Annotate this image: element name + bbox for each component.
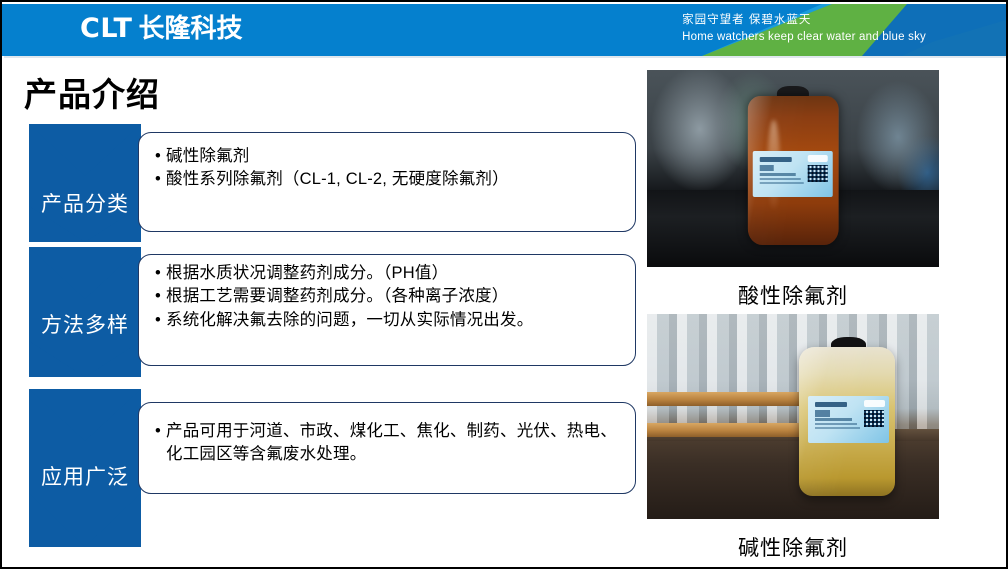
photo1-label-line — [760, 178, 801, 180]
photo2-label-line — [815, 418, 852, 420]
bullet-dot-icon: • — [155, 420, 166, 443]
photo1-label-line — [760, 173, 797, 175]
photo-caption-acidic: 酸性除氟剂 — [647, 280, 939, 310]
tagline-english: Home watchers keep clear water and blue … — [682, 29, 926, 46]
bullet-item: • 酸性系列除氟剂（CL-1, CL-2, 无硬度除氟剂） — [155, 168, 621, 191]
photo2-label-qr-code — [864, 410, 883, 427]
logo-text-cn: 长隆科技 — [138, 15, 242, 41]
photo1-label-title — [760, 157, 792, 162]
bullet-dot-icon: • — [155, 262, 166, 285]
photo2-label-badge — [864, 400, 885, 407]
header-underline — [4, 56, 1008, 58]
bullet-item: • 碱性除氟剂 — [155, 145, 621, 168]
company-logo: CLT 长隆科技 — [80, 15, 242, 42]
photo1-label-badge — [807, 155, 828, 162]
photo2-wooden-rail — [647, 423, 799, 437]
bullet-text: 酸性系列除氟剂（CL-1, CL-2, 无硬度除氟剂） — [166, 168, 621, 191]
section-label-1: 产品分类 — [29, 188, 141, 218]
section-box-1: • 碱性除氟剂 • 酸性系列除氟剂（CL-1, CL-2, 无硬度除氟剂） — [138, 132, 636, 232]
photo2-table-surface — [647, 441, 939, 519]
photo1-bottle-label — [753, 151, 833, 197]
slide-root: CLT 长隆科技 家园守望者 保碧水蓝天 Home watchers keep … — [0, 0, 1008, 569]
product-photo-acidic — [647, 70, 939, 267]
photo1-bottle — [748, 96, 839, 246]
photo1-label-line — [760, 182, 805, 184]
photo1-label-icon — [760, 165, 774, 171]
bullet-dot-icon: • — [155, 309, 166, 332]
page-title: 产品介绍 — [24, 68, 160, 116]
bullet-item: • 根据工艺需要调整药剂成分。（各种离子浓度） — [155, 285, 621, 308]
photo2-label-title — [815, 402, 847, 407]
photo2-bottle-label — [808, 396, 889, 442]
header-bar: CLT 长隆科技 家园守望者 保碧水蓝天 Home watchers keep … — [2, 4, 1006, 56]
bullet-dot-icon: • — [155, 145, 166, 168]
bullet-dot-icon: • — [155, 168, 166, 191]
photo2-bottle — [799, 347, 895, 497]
photo-caption-alkaline: 碱性除氟剂 — [647, 532, 939, 562]
photo2-label-line — [815, 427, 860, 429]
logo-text-clt: CLT — [80, 15, 132, 42]
bullet-dot-icon: • — [155, 285, 166, 308]
chevron-shape-1 — [29, 124, 141, 242]
bullet-text: 碱性除氟剂 — [166, 145, 621, 168]
bullet-text: 根据工艺需要调整药剂成分。（各种离子浓度） — [166, 285, 621, 308]
bullet-item: • 系统化解决氟去除的问题，一切从实际情况出发。 — [155, 309, 621, 332]
product-photo-alkaline — [647, 314, 939, 519]
photo2-label-line — [815, 423, 857, 425]
header-tagline: 家园守望者 保碧水蓝天 Home watchers keep clear wat… — [682, 12, 926, 47]
section-box-2: • 根据水质状况调整药剂成分。（PH值） • 根据工艺需要调整药剂成分。（各种离… — [138, 254, 636, 366]
bullet-text: 产品可用于河道、市政、煤化工、焦化、制药、光伏、热电、化工园区等含氟废水处理。 — [166, 420, 621, 467]
bullet-text: 根据水质状况调整药剂成分。（PH值） — [166, 262, 621, 285]
photo1-label-qr-code — [808, 165, 827, 182]
bullet-item: • 根据水质状况调整药剂成分。（PH值） — [155, 262, 621, 285]
section-box-3: • 产品可用于河道、市政、煤化工、焦化、制药、光伏、热电、化工园区等含氟废水处理… — [138, 402, 636, 494]
bullet-item: • 产品可用于河道、市政、煤化工、焦化、制药、光伏、热电、化工园区等含氟废水处理… — [155, 420, 621, 467]
photo2-test-tube-rack — [647, 314, 939, 429]
section-label-3: 应用广泛 — [29, 461, 141, 491]
section-label-2: 方法多样 — [29, 309, 141, 339]
tagline-chinese: 家园守望者 保碧水蓝天 — [682, 12, 926, 29]
bullet-text: 系统化解决氟去除的问题，一切从实际情况出发。 — [166, 309, 621, 332]
photo2-label-icon — [815, 410, 830, 416]
